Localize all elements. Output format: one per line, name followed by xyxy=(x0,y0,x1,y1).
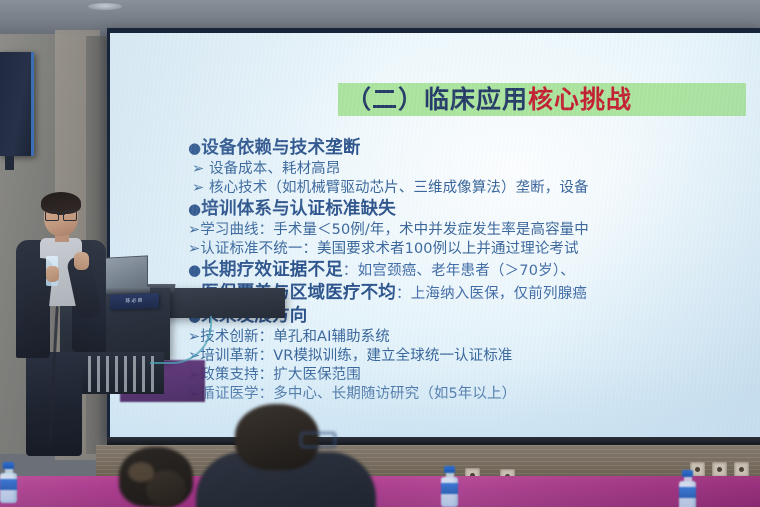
conference-room-photo: （二）临床应用核心挑战 ●设备依赖与技术垄断 ➢ 设备成本、耗材高昂 ➢ 核心技… xyxy=(0,0,760,507)
presenter-hand-right xyxy=(74,252,89,270)
bottle-label xyxy=(0,479,17,490)
slide-line-text: 政策支持：扩大医保范围 xyxy=(200,367,361,383)
side-desk xyxy=(160,288,285,318)
wall-outlet-icon xyxy=(734,462,749,477)
slide-line: ●长期疗效证据不足：如宫颈癌、老年患者（＞70岁）、 xyxy=(188,259,760,282)
bottle-cap xyxy=(3,462,14,469)
slide-title-highlight: 核心挑战 xyxy=(528,85,632,114)
slide-line-text: 培训革新：VR模拟训练，建立全球统一认证标准 xyxy=(200,348,512,364)
slide-line-text: 技术创新：单孔和AI辅助系统 xyxy=(200,329,390,345)
slide-line-text: 长期疗效证据不足 xyxy=(201,260,343,280)
slide-line-tail: ：如宫颈癌、老年患者（＞70岁）、 xyxy=(343,263,575,279)
water-bottle xyxy=(441,466,458,507)
glasses-icon xyxy=(45,211,77,219)
slide-line: ➢学习曲线：手术量＜50例/年，术中并发症发生率是高容量中 xyxy=(188,221,760,240)
presentation-slide: （二）临床应用核心挑战 ●设备依赖与技术垄断 ➢ 设备成本、耗材高昂 ➢ 核心技… xyxy=(110,33,760,437)
bottle-cap xyxy=(444,466,455,473)
glasses-icon xyxy=(300,432,336,448)
bottle-neck xyxy=(446,473,454,477)
bottle-body xyxy=(679,481,696,507)
slide-title-prefix: （二）临床应用 xyxy=(346,85,528,114)
ceiling-light-icon xyxy=(88,3,122,10)
arrow-bullet-icon: ➢ xyxy=(188,241,200,257)
slide-line: ➢循证医学：多中心、长期随访研究（如5年以上） xyxy=(188,385,760,404)
water-bottle xyxy=(0,462,17,503)
projection-screen: （二）临床应用核心挑战 ●设备依赖与技术垄断 ➢ 设备成本、耗材高昂 ➢ 核心技… xyxy=(110,33,760,437)
arrow-bullet-icon: ➢ xyxy=(192,180,204,196)
presenter xyxy=(8,196,112,456)
wall-outlet-icon xyxy=(712,462,727,477)
bullet-dot-icon: ● xyxy=(188,261,201,279)
slide-line-text: 培训体系与认证标准缺失 xyxy=(201,199,396,219)
slide-line: ➢培训革新：VR模拟训练，建立全球统一认证标准 xyxy=(188,347,760,366)
bottle-label xyxy=(679,487,696,498)
table-skirt-sheen xyxy=(0,476,760,507)
speaker-nameplate-text: 陈必良 xyxy=(110,293,159,310)
slide-line: ●培训体系与认证标准缺失 xyxy=(188,198,760,221)
presenter-hand-left xyxy=(46,266,59,282)
bullet-dot-icon: ● xyxy=(188,139,201,157)
audience-member-hair-highlight xyxy=(128,462,154,482)
bottle-label xyxy=(441,483,458,494)
slide-line: ➢ 设备成本、耗材高昂 xyxy=(188,160,760,179)
slide-line-text: 循证医学：多中心、长期随访研究（如5年以上） xyxy=(200,386,516,402)
bottle-body xyxy=(441,477,458,507)
bottle-cap xyxy=(682,470,693,477)
slide-body: ●设备依赖与技术垄断 ➢ 设备成本、耗材高昂 ➢ 核心技术（如机械臂驱动芯片、三… xyxy=(188,137,760,404)
bottle-body xyxy=(0,473,17,503)
lower-wall-texture xyxy=(96,445,760,478)
speaker-nameplate: 陈必良 xyxy=(110,293,159,310)
slide-title: （二）临床应用核心挑战 xyxy=(346,83,632,116)
slide-line: ➢技术创新：单孔和AI辅助系统 xyxy=(188,328,760,347)
slide-line: ➢认证标准不统一：美国要求术者100例以上并通过理论考试 xyxy=(188,240,760,259)
bottle-neck xyxy=(5,469,13,473)
slide-line-text: 学习曲线：手术量＜50例/年，术中并发症发生率是高容量中 xyxy=(200,222,589,238)
slide-line-text: 设备成本、耗材高昂 xyxy=(209,161,340,177)
slide-line: ●设备依赖与技术垄断 xyxy=(188,137,760,160)
slide-line-text: 设备依赖与技术垄断 xyxy=(201,138,360,158)
slide-line: ➢ 核心技术（如机械臂驱动芯片、三维成像算法）垄断，设备 xyxy=(188,179,760,198)
bottle-neck xyxy=(684,477,692,481)
wall-speaker-icon xyxy=(0,52,34,156)
arrow-bullet-icon: ➢ xyxy=(192,161,204,177)
slide-line-tail: ：上海纳入医保，仅前列腺癌 xyxy=(396,286,587,302)
water-bottle xyxy=(679,470,696,507)
slide-line: ➢政策支持：扩大医保范围 xyxy=(188,366,760,385)
arrow-bullet-icon: ➢ xyxy=(188,222,200,238)
bullet-dot-icon: ● xyxy=(188,200,201,218)
slide-line-text: 核心技术（如机械臂驱动芯片、三维成像算法）垄断，设备 xyxy=(209,180,589,196)
slide-line-text: 认证标准不统一：美国要求术者100例以上并通过理论考试 xyxy=(200,241,578,257)
screen-bottom-rail xyxy=(107,437,760,445)
